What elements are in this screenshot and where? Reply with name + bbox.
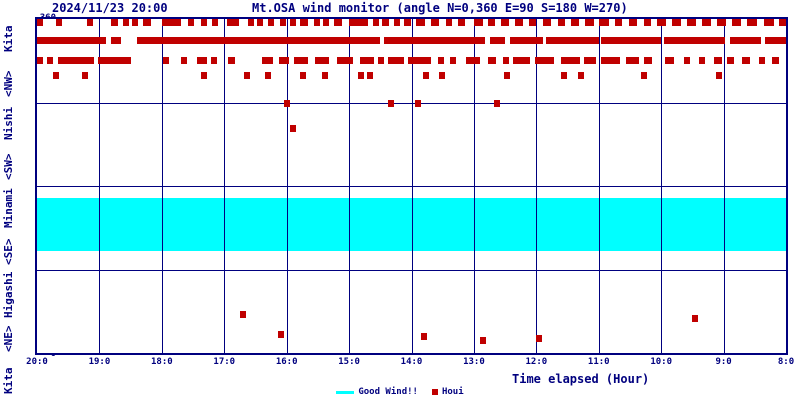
data-point (257, 19, 263, 26)
data-point (56, 19, 62, 26)
data-point (732, 19, 741, 26)
data-point (58, 57, 94, 64)
x-tick-label: 8:0 (778, 357, 794, 367)
data-point (228, 57, 235, 64)
data-point (438, 57, 444, 64)
data-point (290, 125, 296, 132)
y-direction-label-se: <SE> (2, 239, 15, 266)
data-point (367, 72, 373, 79)
data-point (510, 37, 542, 44)
legend-item-houi: Houi (432, 387, 464, 397)
data-point (290, 19, 296, 26)
data-point (535, 57, 554, 64)
y-direction-label-higashi: Higashi (2, 272, 15, 318)
chart-plot-area (35, 17, 788, 355)
data-point (657, 19, 666, 26)
data-point (132, 19, 138, 26)
data-point (415, 100, 421, 107)
data-point (504, 72, 510, 79)
data-point (337, 57, 353, 64)
data-point (529, 19, 536, 26)
data-point (626, 57, 638, 64)
data-point (163, 57, 169, 64)
data-point (294, 57, 308, 64)
data-point (262, 57, 273, 64)
data-point (466, 57, 480, 64)
data-point (458, 19, 465, 26)
x-tick-label: 17:0 (213, 357, 235, 367)
data-point (394, 19, 400, 26)
gridline-vertical (224, 19, 225, 353)
data-point (323, 19, 329, 26)
data-point (47, 57, 53, 64)
legend-label-houi: Houi (442, 387, 464, 397)
data-point (240, 311, 246, 318)
gridline-vertical (724, 19, 725, 353)
data-point (439, 72, 445, 79)
data-point (765, 37, 786, 44)
data-point (571, 19, 578, 26)
x-tick-label: 14:0 (401, 357, 423, 367)
data-point (358, 72, 364, 79)
data-point (629, 19, 638, 26)
data-point (280, 19, 286, 26)
data-point (446, 19, 452, 26)
data-point (314, 19, 320, 26)
data-point (772, 57, 778, 64)
gridline-vertical (661, 19, 662, 353)
gridline-vertical (287, 19, 288, 353)
data-point (759, 57, 765, 64)
data-point (244, 72, 250, 79)
data-point (227, 19, 239, 26)
data-point (408, 57, 432, 64)
data-point (561, 72, 567, 79)
data-point (373, 19, 379, 26)
data-point (162, 37, 380, 44)
gridline-vertical (412, 19, 413, 353)
x-axis-title: Time elapsed (Hour) (512, 372, 649, 386)
x-tick-label: 9:0 (715, 357, 731, 367)
x-tick-label: 15:0 (338, 357, 360, 367)
y-direction-label-nw: <NW> (2, 71, 15, 98)
data-point (513, 57, 530, 64)
data-point (601, 57, 620, 64)
data-point (727, 57, 733, 64)
data-point (672, 19, 681, 26)
data-point (201, 19, 207, 26)
date-label: 2024/11/23 20:00 (52, 1, 168, 15)
gridline-vertical (349, 19, 350, 353)
x-tick-label: 20:0 (26, 357, 48, 367)
data-point (692, 315, 698, 322)
chart-title: Mt.OSA wind monitor (angle N=0,360 E=90 … (252, 1, 628, 15)
data-point (742, 57, 749, 64)
data-point (714, 57, 723, 64)
data-point (450, 57, 456, 64)
data-point (730, 37, 761, 44)
data-point (300, 19, 307, 26)
x-tick-label: 16:0 (276, 357, 298, 367)
data-point (268, 19, 274, 26)
data-point (687, 19, 696, 26)
data-point (431, 19, 438, 26)
data-point (494, 100, 500, 107)
data-point (123, 19, 129, 26)
data-point (416, 19, 425, 26)
data-point (111, 19, 118, 26)
data-point (197, 57, 207, 64)
y-direction-label-nishi: Nishi (2, 107, 15, 140)
data-point (515, 19, 522, 26)
data-point (546, 37, 598, 44)
data-point (779, 19, 786, 26)
x-tick-label: 11:0 (588, 357, 610, 367)
data-point (747, 19, 757, 26)
data-point (501, 19, 508, 26)
data-point (162, 19, 181, 26)
houi-swatch-icon (432, 389, 438, 395)
data-point (490, 37, 505, 44)
data-point (644, 57, 653, 64)
data-point (300, 72, 306, 79)
data-point (641, 72, 647, 79)
data-point (601, 37, 661, 44)
data-point (764, 19, 774, 26)
data-point (599, 19, 609, 26)
chart-plot-inner (37, 19, 786, 353)
data-point (382, 19, 389, 26)
data-point (404, 19, 411, 26)
y-direction-label-ne: <NE> (2, 326, 15, 353)
data-point (421, 333, 427, 340)
data-point (536, 335, 542, 342)
wind-monitor-screen: 2024/11/23 20:00 Mt.OSA wind monitor (an… (0, 0, 800, 400)
data-point (143, 19, 150, 26)
data-point (211, 57, 217, 64)
legend-label-good-wind: Good Wind!! (358, 387, 418, 397)
gridline-vertical (599, 19, 600, 353)
data-point (384, 37, 485, 44)
data-point (561, 57, 580, 64)
data-point (137, 37, 162, 44)
x-tick-label: 13:0 (463, 357, 485, 367)
data-point (423, 72, 429, 79)
data-point (664, 37, 725, 44)
gridline-vertical (474, 19, 475, 353)
data-point (684, 57, 690, 64)
data-point (265, 72, 271, 79)
data-point (488, 19, 495, 26)
data-point (702, 19, 711, 26)
data-point (82, 72, 88, 79)
data-point (53, 72, 59, 79)
data-point (665, 57, 674, 64)
data-point (37, 19, 43, 26)
y-direction-label-minami: Minami (2, 188, 15, 228)
data-point (322, 72, 328, 79)
gridline-vertical (162, 19, 163, 353)
data-point (279, 57, 289, 64)
chart-legend: Good Wind!! Houi (0, 386, 800, 398)
legend-item-good-wind: Good Wind!! (336, 387, 418, 397)
data-point (181, 57, 187, 64)
data-point (480, 337, 486, 344)
data-point (578, 72, 584, 79)
data-point (388, 100, 394, 107)
data-point (543, 19, 552, 26)
data-point (388, 57, 404, 64)
data-point (716, 72, 722, 79)
x-tick-label: 18:0 (151, 357, 173, 367)
data-point (585, 19, 594, 26)
data-point (248, 19, 254, 26)
data-point (488, 57, 497, 64)
data-point (37, 37, 106, 44)
data-point (378, 57, 384, 64)
data-point (503, 57, 509, 64)
data-point (111, 37, 121, 44)
data-point (278, 331, 284, 338)
data-point (558, 19, 565, 26)
data-point (98, 57, 130, 64)
y-direction-label-kita-top: Kita (2, 26, 15, 53)
good-wind-swatch-icon (336, 391, 354, 394)
data-point (360, 57, 374, 64)
data-point (334, 19, 341, 26)
data-point (212, 19, 218, 26)
data-point (584, 57, 596, 64)
data-point (284, 100, 290, 107)
data-point (349, 19, 368, 26)
gridline-vertical (536, 19, 537, 353)
data-point (201, 72, 207, 79)
data-point (699, 57, 705, 64)
x-tick-label: 19:0 (89, 357, 111, 367)
x-tick-label: 10:0 (650, 357, 672, 367)
data-point (474, 19, 483, 26)
x-tick-label: 12:0 (525, 357, 547, 367)
data-point (37, 57, 43, 64)
gridline-vertical (99, 19, 100, 353)
data-point (188, 19, 194, 26)
y-direction-label-sw: <SW> (2, 154, 15, 181)
data-point (615, 19, 622, 26)
data-point (315, 57, 329, 64)
data-point (644, 19, 651, 26)
data-point (87, 19, 93, 26)
data-point (717, 19, 726, 26)
